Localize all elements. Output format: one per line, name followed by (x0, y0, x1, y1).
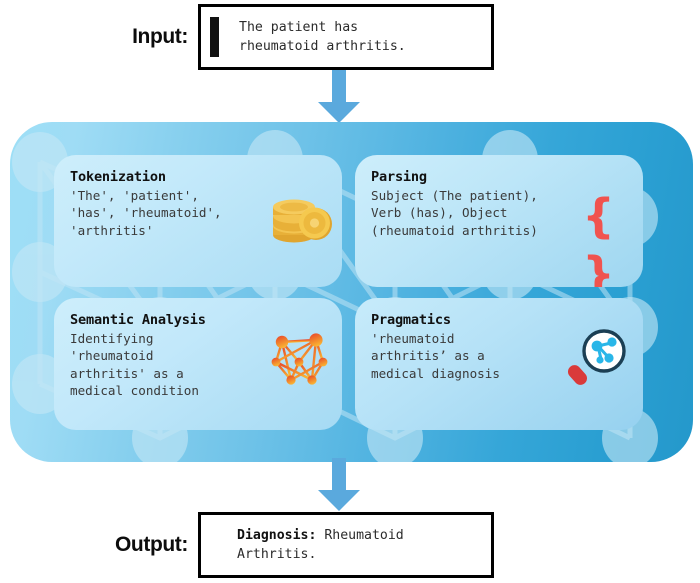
output-label: Output: (0, 533, 198, 557)
stage-body-parsing: Subject (The patient), Verb (has), Objec… (371, 187, 583, 239)
stage-body-semantic-analysis: Identifying 'rheumatoid arthritis' as a … (70, 330, 275, 400)
coins-icon (270, 193, 332, 245)
magnifier-share-icon (567, 326, 629, 388)
input-row: Input: The patient has rheumatoid arthri… (0, 4, 494, 70)
stage-body-tokenization: 'The', 'patient', 'has', 'rheumatoid', '… (70, 187, 275, 239)
down-arrow-icon-bottom (317, 458, 361, 512)
text-cursor-icon (210, 17, 219, 57)
output-diagnosis-prefix: Diagnosis: (237, 528, 316, 543)
output-box[interactable]: Diagnosis: Rheumatoid Arthritis. (198, 512, 494, 578)
input-label: Input: (0, 25, 198, 49)
input-text: The patient has rheumatoid arthritis. (219, 18, 406, 56)
network-graph-icon (266, 326, 332, 392)
stage-card-parsing[interactable]: Parsing Subject (The patient), Verb (has… (355, 155, 643, 287)
input-box[interactable]: The patient has rheumatoid arthritis. (198, 4, 494, 70)
output-row: Output: Diagnosis: Rheumatoid Arthritis. (0, 512, 494, 578)
curly-braces-icon: { } (569, 187, 629, 247)
curly-braces-glyph: { } (569, 187, 629, 287)
stage-body-pragmatics: 'rheumatoid arthritis’ as a medical diag… (371, 330, 576, 382)
stage-title-tokenization: Tokenization (70, 169, 326, 185)
stage-card-tokenization[interactable]: Tokenization 'The', 'patient', 'has', 'r… (54, 155, 342, 287)
stage-card-semantic-analysis[interactable]: Semantic Analysis Identifying 'rheumatoi… (54, 298, 342, 430)
nlp-pipeline-container: Tokenization 'The', 'patient', 'has', 'r… (10, 122, 693, 462)
output-text: Diagnosis: Rheumatoid Arthritis. (201, 526, 404, 564)
down-arrow-icon-top (317, 70, 361, 124)
stage-title-parsing: Parsing (371, 169, 627, 185)
stage-card-pragmatics[interactable]: Pragmatics 'rheumatoid arthritis’ as a m… (355, 298, 643, 430)
